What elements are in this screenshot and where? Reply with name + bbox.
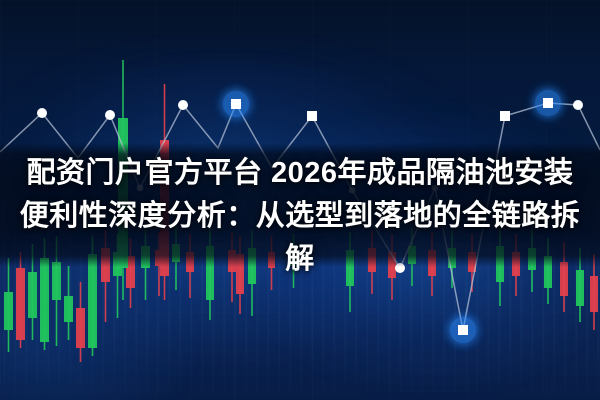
zigzag-node — [105, 110, 115, 120]
zigzag-node — [458, 325, 468, 335]
candle-body — [590, 276, 598, 312]
candle-body — [64, 296, 73, 322]
zigzag-node — [37, 108, 47, 118]
banner-headline: 配资门户官方平台 2026年成品隔油池安装便利性深度分析：从选型到落地的全链路拆… — [0, 152, 600, 281]
candle-body — [76, 308, 85, 348]
zigzag-node — [307, 111, 317, 121]
zigzag-node — [500, 111, 510, 121]
zigzag-node — [573, 100, 583, 110]
banner-image: 配资门户官方平台 2026年成品隔油池安装便利性深度分析：从选型到落地的全链路拆… — [0, 0, 600, 400]
candle-body — [4, 292, 13, 330]
zigzag-node — [178, 100, 188, 110]
zigzag-node — [231, 99, 241, 109]
zigzag-node — [543, 98, 553, 108]
